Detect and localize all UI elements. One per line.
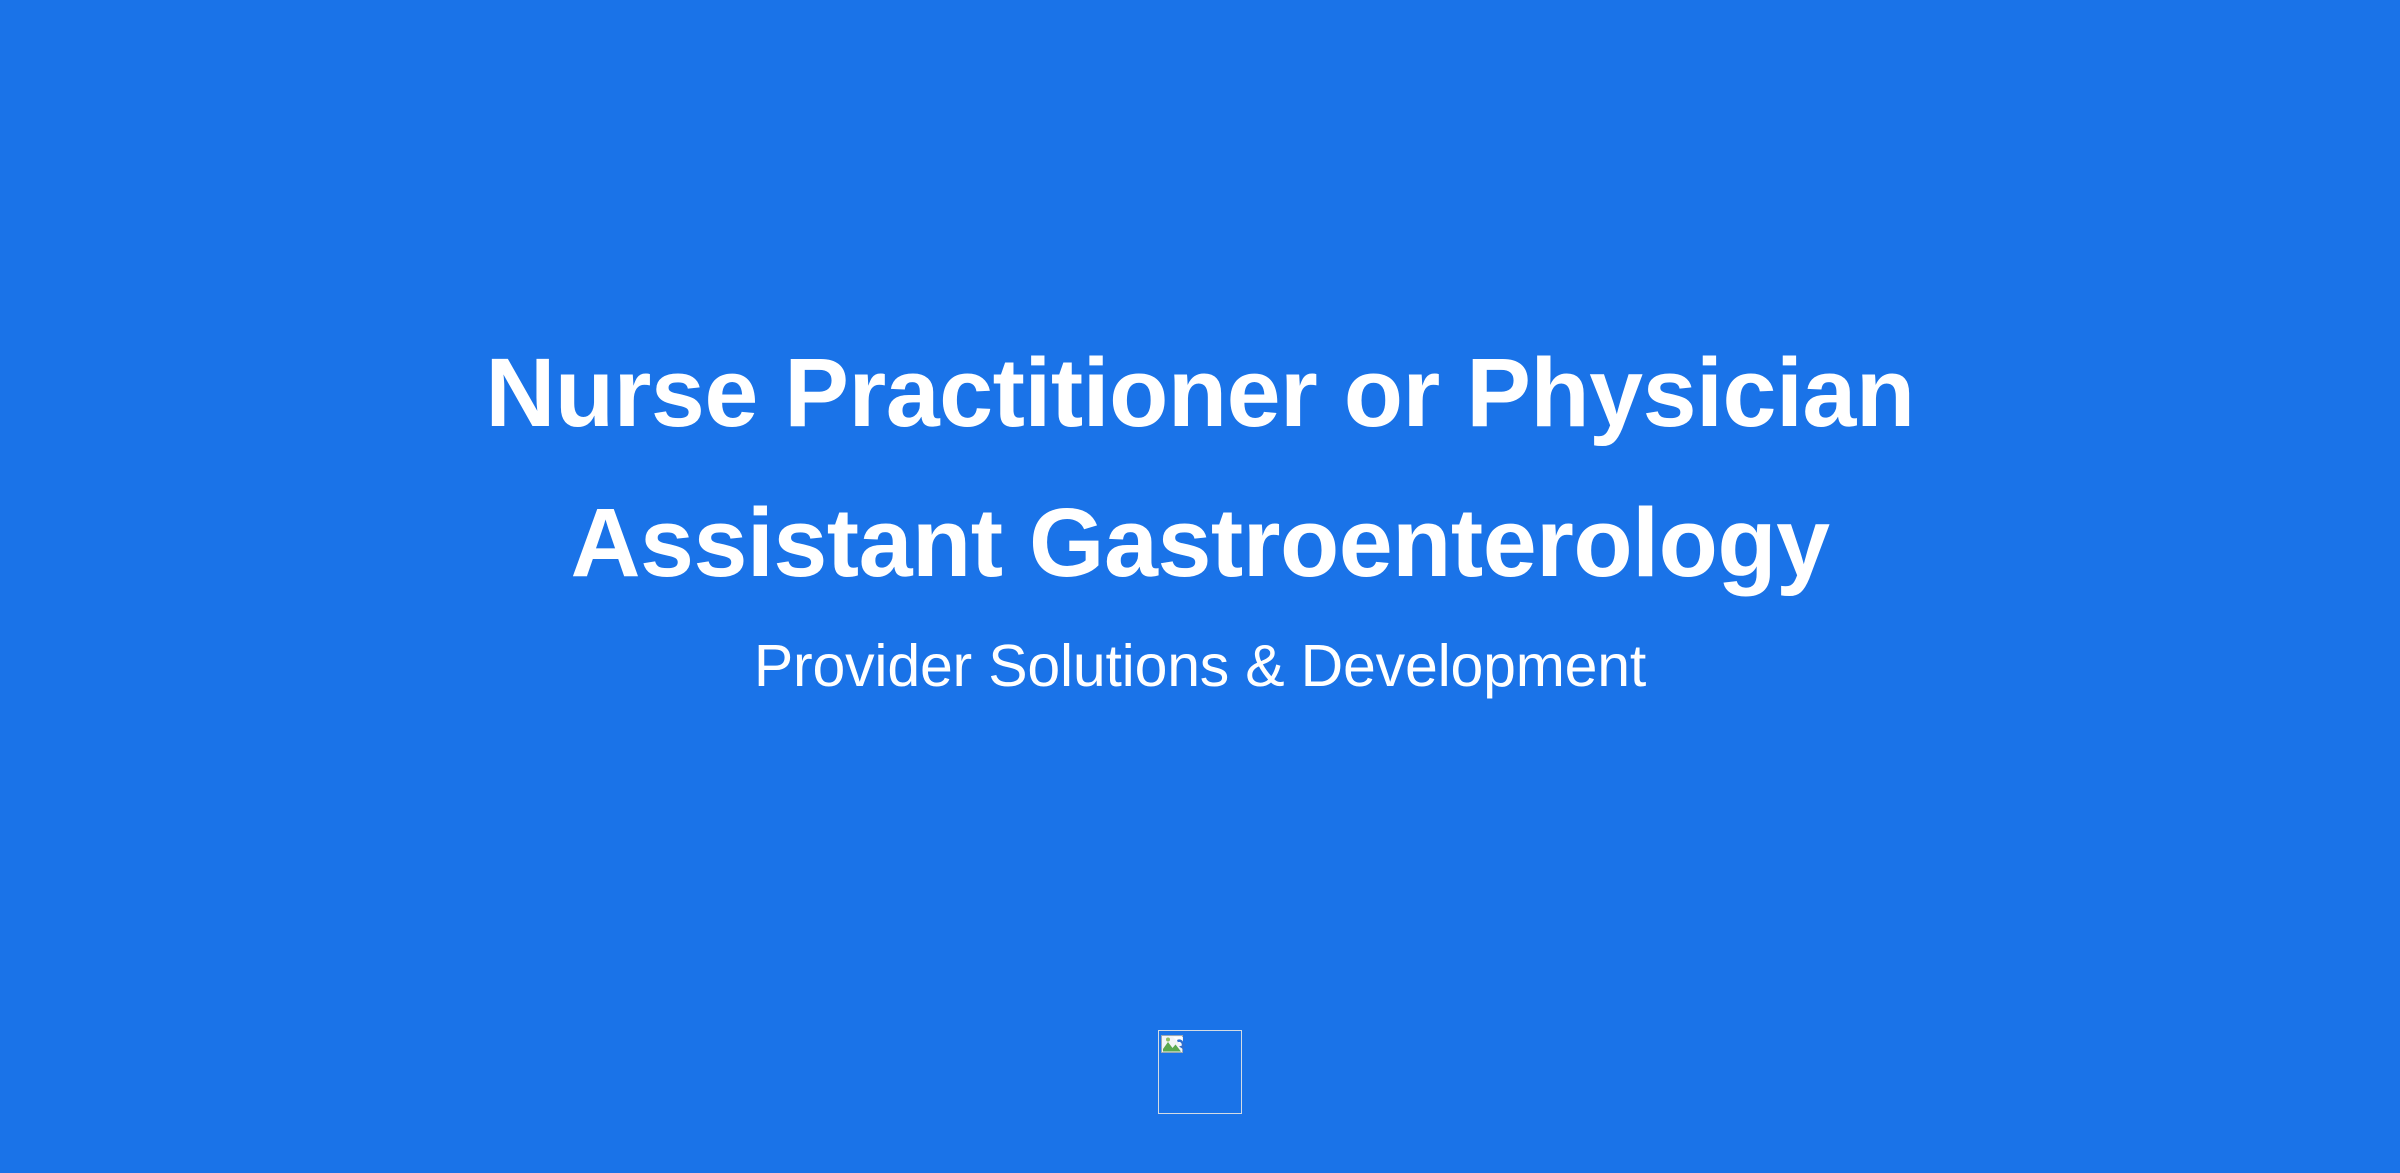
employer-logo	[1158, 1030, 1242, 1114]
broken-image-icon	[1161, 1033, 1187, 1059]
hero-text-block: Nurse Practitioner or Physician Assistan…	[0, 318, 2400, 704]
page-title: Nurse Practitioner or Physician Assistan…	[350, 318, 2050, 618]
job-posting-hero: Nurse Practitioner or Physician Assistan…	[0, 0, 2400, 1173]
employer-name: Provider Solutions & Development	[120, 628, 2280, 704]
